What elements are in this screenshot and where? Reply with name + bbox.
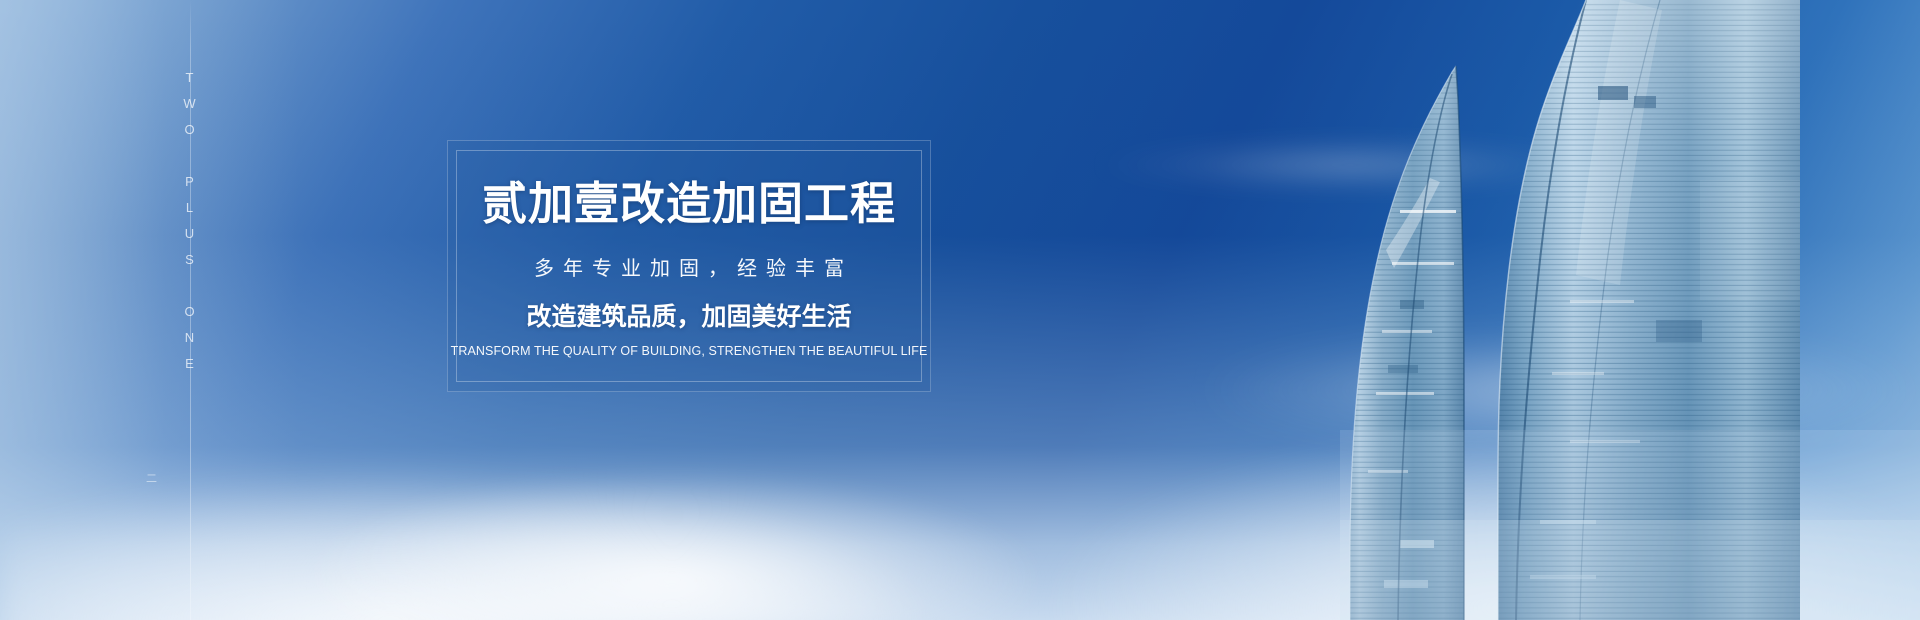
cloud-mid	[240, 380, 1140, 620]
hero-slogan: 改造建筑品质，加固美好生活	[526, 305, 851, 330]
brand-strip: TWO PLUS ONE	[183, 70, 196, 382]
left-haze-gradient	[0, 0, 300, 620]
twin-tower-skyline	[1100, 0, 1920, 620]
brand-vertical-text: TWO PLUS ONE	[183, 70, 196, 382]
brand-corner-mark: 二	[146, 470, 158, 486]
hero-subtitle: 多年专业加固，经验丰富	[525, 259, 853, 279]
hero-banner: TWO PLUS ONE 二 贰加壹改造加固工程 多年专业加固，经验丰富 改造建…	[0, 0, 1920, 620]
hero-english-tagline: TRANSFORM THE QUALITY OF BUILDING, STREN…	[451, 345, 928, 358]
hero-title: 贰加壹改造加固工程	[482, 181, 896, 226]
hero-content: 贰加壹改造加固工程 多年专业加固，经验丰富 改造建筑品质，加固美好生活 TRAN…	[448, 141, 930, 391]
hero-card: 贰加壹改造加固工程 多年专业加固，经验丰富 改造建筑品质，加固美好生活 TRAN…	[447, 140, 931, 392]
